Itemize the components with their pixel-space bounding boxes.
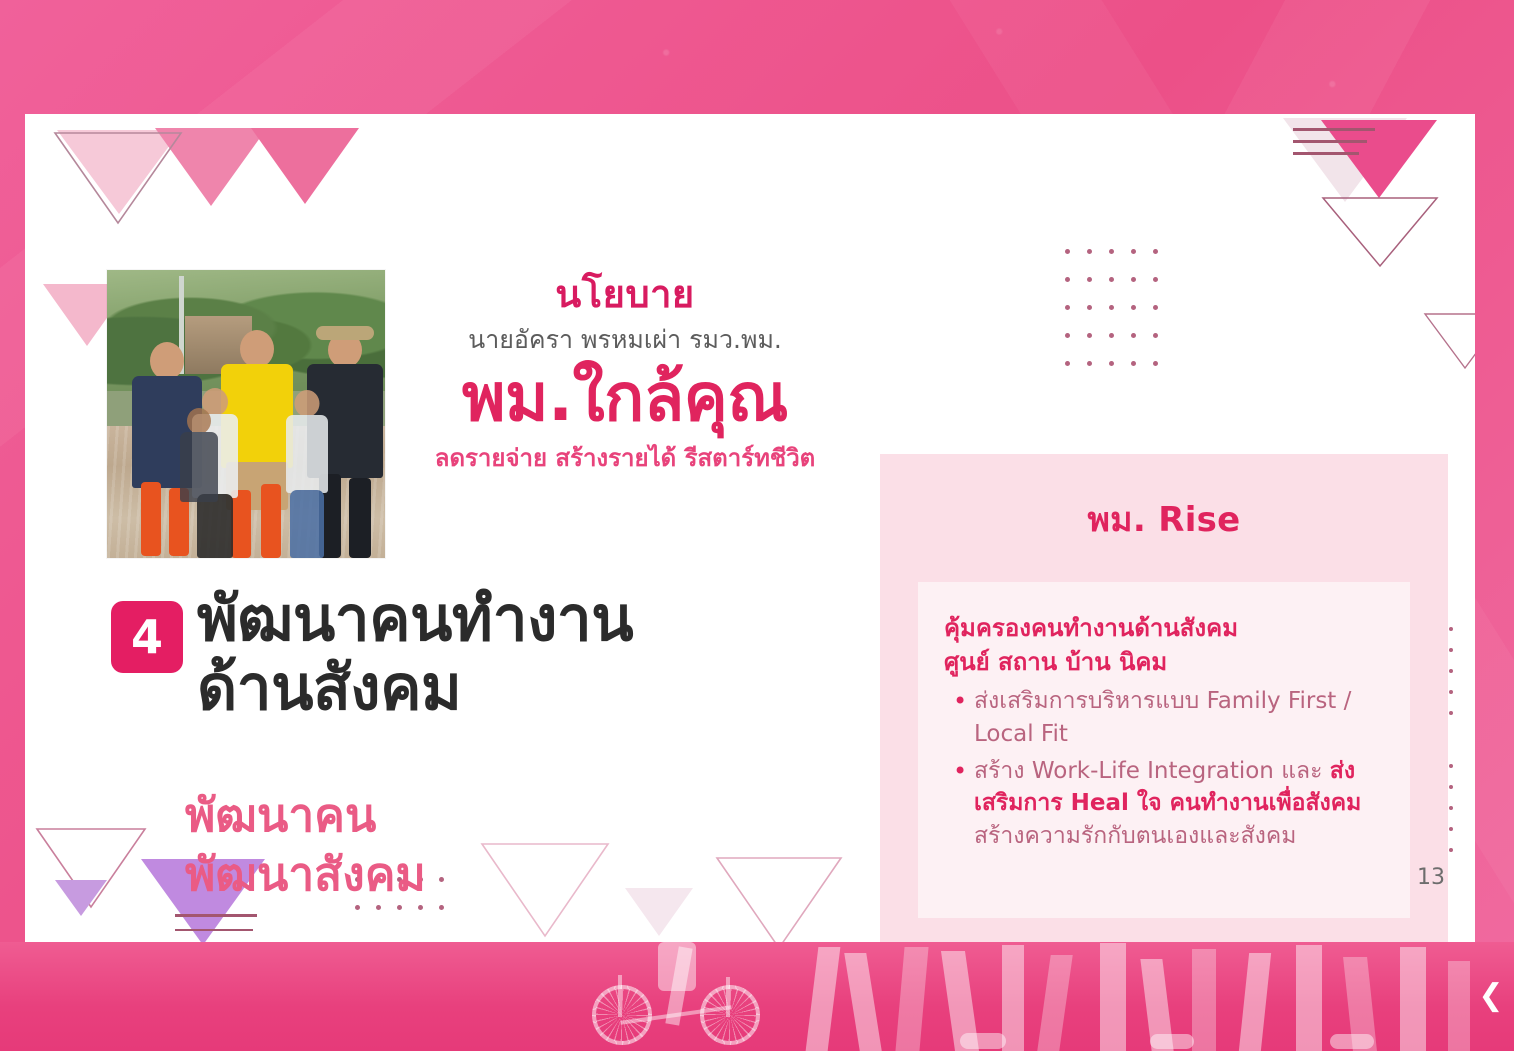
decor-lines-topright bbox=[1293, 128, 1375, 155]
rise-bullet-item: ส่งเสริมการบริหารแบบ Family First / Loca… bbox=[944, 685, 1384, 750]
bicycle-wheel-rear bbox=[592, 985, 652, 1045]
section-number-badge: 4 bbox=[111, 601, 183, 673]
rise-heading-line-2: ศูนย์ สถาน บ้าน นิคม bbox=[944, 646, 1384, 680]
decor-triangle-outline-topright-1 bbox=[1321, 196, 1439, 268]
silhouette-shoe-2 bbox=[1150, 1034, 1194, 1049]
rise-bullet-item: สร้าง Work-Life Integration และ ส่งเสริม… bbox=[944, 755, 1384, 853]
page-subtitle: พัฒนาคน พัฒนาสังคม bbox=[185, 786, 825, 904]
page-number: 13 bbox=[1417, 865, 1445, 890]
rise-bullet-list: ส่งเสริมการบริหารแบบ Family First / Loca… bbox=[944, 685, 1384, 852]
silhouette-leg-1 bbox=[806, 947, 841, 1051]
photo-person-bg-blue bbox=[285, 390, 329, 558]
silhouette-leg-7 bbox=[1100, 943, 1126, 1051]
decor-triangle-outline-topright-2 bbox=[1423, 312, 1475, 370]
people-silhouette-band bbox=[0, 942, 1514, 1051]
rise-panel-title: พม. Rise bbox=[880, 454, 1448, 546]
photo-person-hat bbox=[316, 326, 374, 340]
rise-bullet-text: สร้างความรักกับตนเองและสังคม bbox=[974, 823, 1296, 849]
silhouette-leg-11 bbox=[1296, 945, 1322, 1051]
decor-lines-bottomleft bbox=[175, 914, 257, 942]
silhouette-leg-13 bbox=[1400, 947, 1426, 1051]
rise-bullet-text: ส่งเสริมการบริหารแบบ Family First / Loca… bbox=[974, 688, 1351, 747]
next-slide-chevron-icon[interactable]: ❮ bbox=[1478, 979, 1504, 1013]
campaign-tagline: ลดรายจ่าย สร้างรายได้ รีสตาร์ทชีวิต bbox=[400, 444, 850, 473]
bicycle-rider-body bbox=[658, 942, 696, 991]
flood-visit-photo bbox=[107, 270, 385, 558]
rise-bullet-text: สร้าง Work-Life Integration และ bbox=[974, 758, 1330, 784]
policy-header: นโยบาย นายอัครา พรหมเผ่า รมว.พม. พม.ใกล้… bbox=[400, 274, 850, 473]
rise-heading-line-1: คุ้มครองคนทำงานด้านสังคม bbox=[944, 612, 1384, 646]
photo-person-bg-dark bbox=[179, 408, 219, 558]
silhouette-leg-14 bbox=[1448, 961, 1470, 1051]
page-subtitle-line-2: พัฒนาสังคม bbox=[185, 845, 825, 904]
rise-panel-content: คุ้มครองคนทำงานด้านสังคม ศูนย์ สถาน บ้าน… bbox=[918, 582, 1410, 918]
bicycle-wheel-front bbox=[700, 985, 760, 1045]
bicycle-seat-post bbox=[618, 975, 622, 1017]
policy-label: นโยบาย bbox=[400, 274, 850, 316]
decor-triangle-outline-topleft bbox=[53, 130, 183, 226]
silhouette-leg-9 bbox=[1192, 949, 1216, 1051]
silhouette-leg-5 bbox=[1002, 945, 1024, 1051]
page-subtitle-line-1: พัฒนาคน bbox=[185, 786, 825, 845]
page-title-line-2: ด้านสังคม bbox=[197, 653, 837, 722]
slide-viewer: นโยบาย นายอัครา พรหมเผ่า รมว.พม. พม.ใกล้… bbox=[0, 0, 1514, 1051]
page-title: พัฒนาคนทำงาน ด้านสังคม bbox=[197, 584, 837, 723]
decor-triangle-bottomleft-purple-small bbox=[55, 880, 107, 916]
rise-panel: พม. Rise คุ้มครองคนทำงานด้านสังคม ศูนย์ … bbox=[880, 454, 1448, 942]
silhouette-leg-3 bbox=[895, 947, 928, 1051]
minister-name: นายอัครา พรหมเผ่า รมว.พม. bbox=[400, 325, 850, 355]
slide-card: นโยบาย นายอัครา พรหมเผ่า รมว.พม. พม.ใกล้… bbox=[25, 114, 1475, 942]
bicycle-handlebar bbox=[726, 977, 730, 1017]
silhouette-leg-2 bbox=[844, 953, 882, 1051]
silhouette-shoe-1 bbox=[960, 1033, 1006, 1049]
decor-dotgrid-top bbox=[1065, 249, 1175, 389]
silhouette-leg-10 bbox=[1239, 953, 1271, 1051]
rise-panel-heading: คุ้มครองคนทำงานด้านสังคม ศูนย์ สถาน บ้าน… bbox=[944, 612, 1384, 679]
page-title-line-1: พัฒนาคนทำงาน bbox=[197, 584, 837, 653]
decor-triangle-topleft-3 bbox=[251, 128, 359, 204]
silhouette-leg-6 bbox=[1037, 955, 1072, 1051]
silhouette-shoe-3 bbox=[1330, 1034, 1374, 1049]
campaign-title: พม.ใกล้คุณ bbox=[400, 361, 850, 435]
